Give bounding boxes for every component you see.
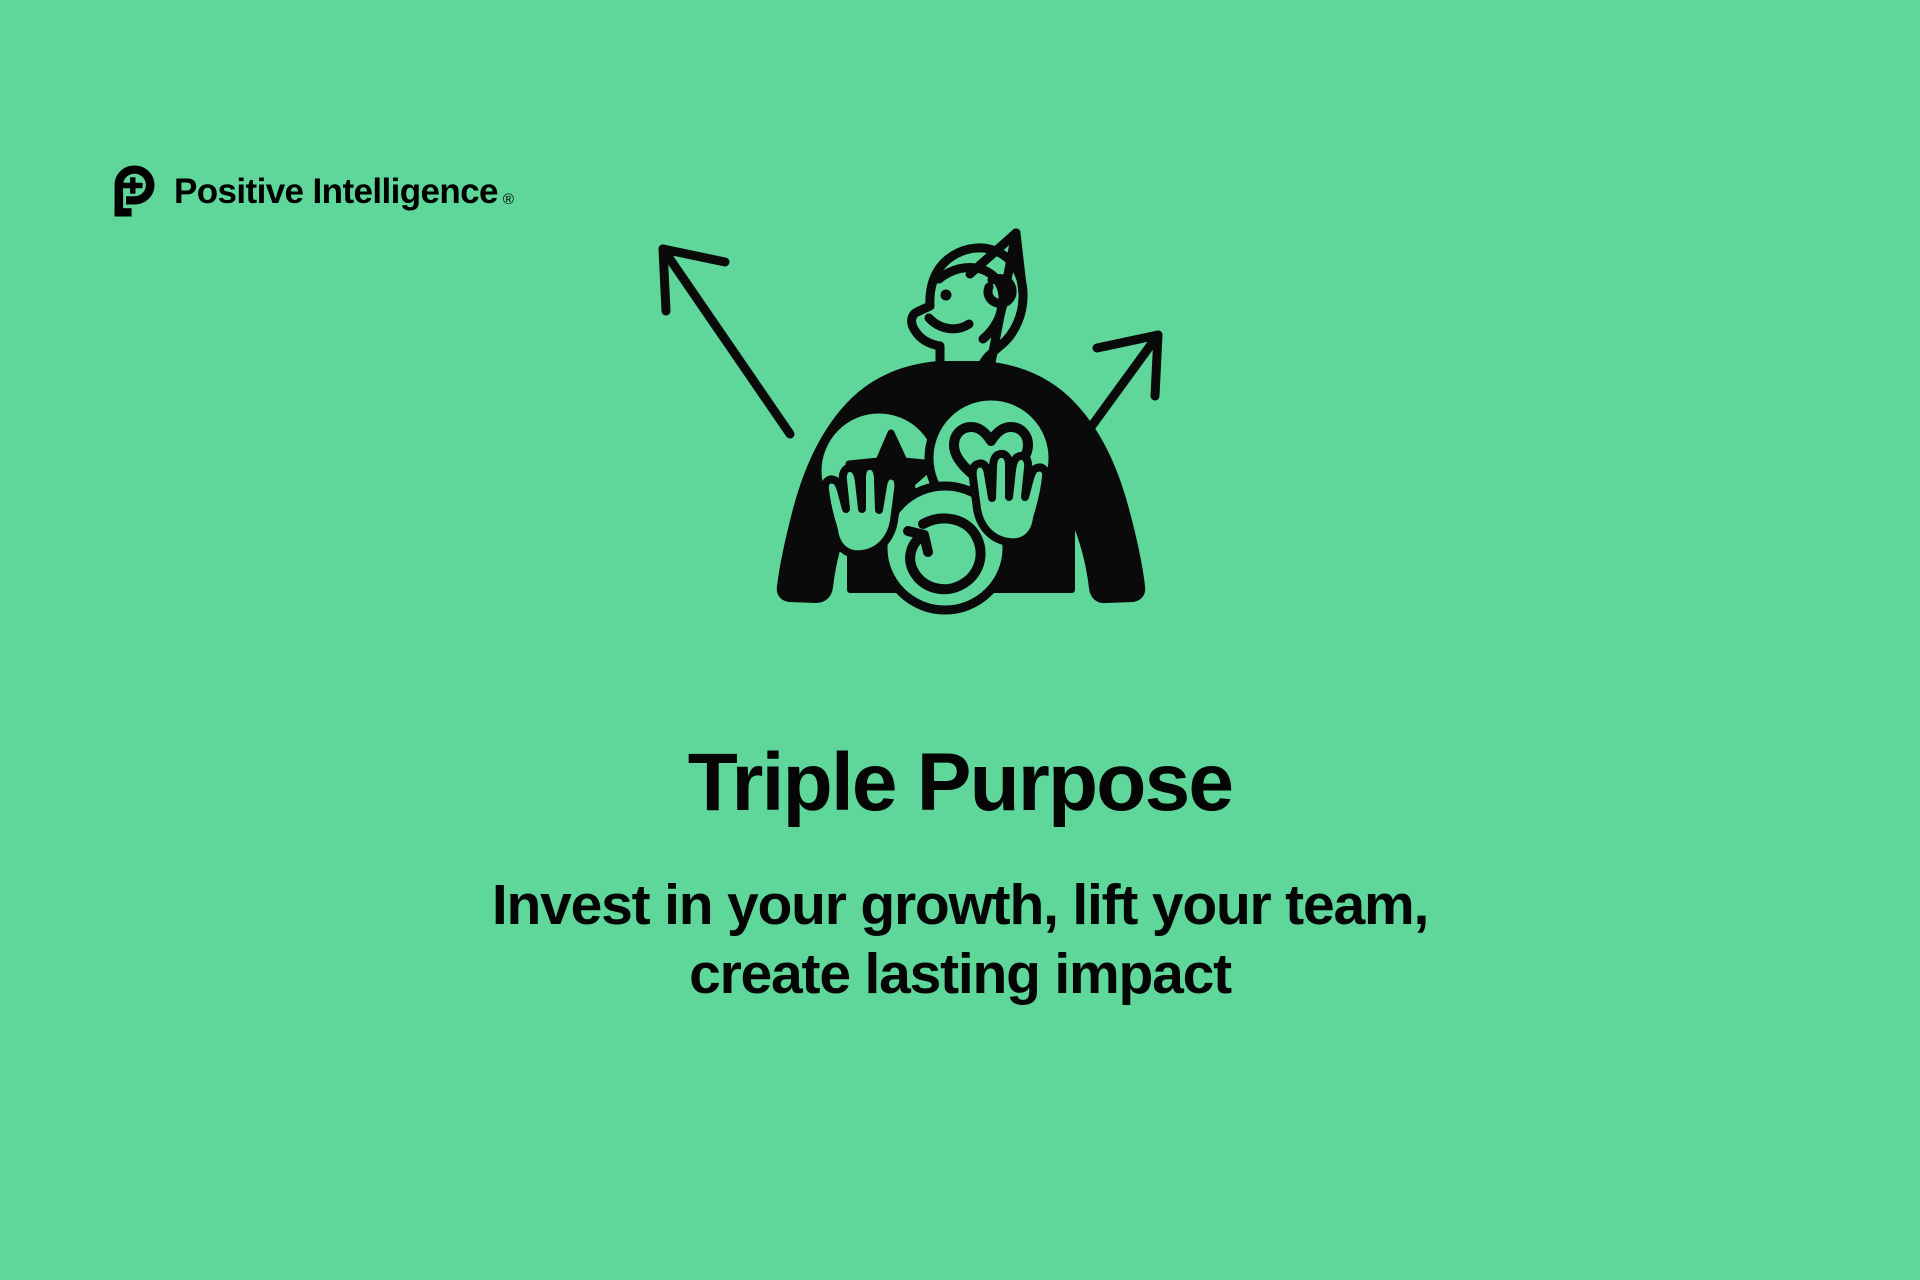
page-subtitle-line-1: Invest in your growth, lift your team, xyxy=(320,871,1600,941)
arrow-up-left-icon xyxy=(663,249,790,434)
brand-lockup[interactable]: Positive Intelligence ® xyxy=(104,163,514,219)
registered-trademark-icon: ® xyxy=(503,192,514,209)
slide-canvas: Positive Intelligence ® xyxy=(0,0,1920,1280)
page-title: Triple Purpose xyxy=(0,740,1920,827)
brand-name: Positive Intelligence xyxy=(174,174,498,209)
triple-purpose-illustration xyxy=(640,218,1280,688)
open-hand-left-icon xyxy=(825,466,898,554)
page-subtitle: Invest in your growth, lift your team, c… xyxy=(0,871,1920,1010)
headline-block: Triple Purpose Invest in your growth, li… xyxy=(0,740,1920,1010)
open-hand-right-icon xyxy=(973,454,1046,542)
positive-intelligence-p-plus-mark-icon xyxy=(104,163,158,219)
brand-wordmark: Positive Intelligence ® xyxy=(174,174,514,209)
page-subtitle-line-2: create lasting impact xyxy=(320,940,1600,1010)
